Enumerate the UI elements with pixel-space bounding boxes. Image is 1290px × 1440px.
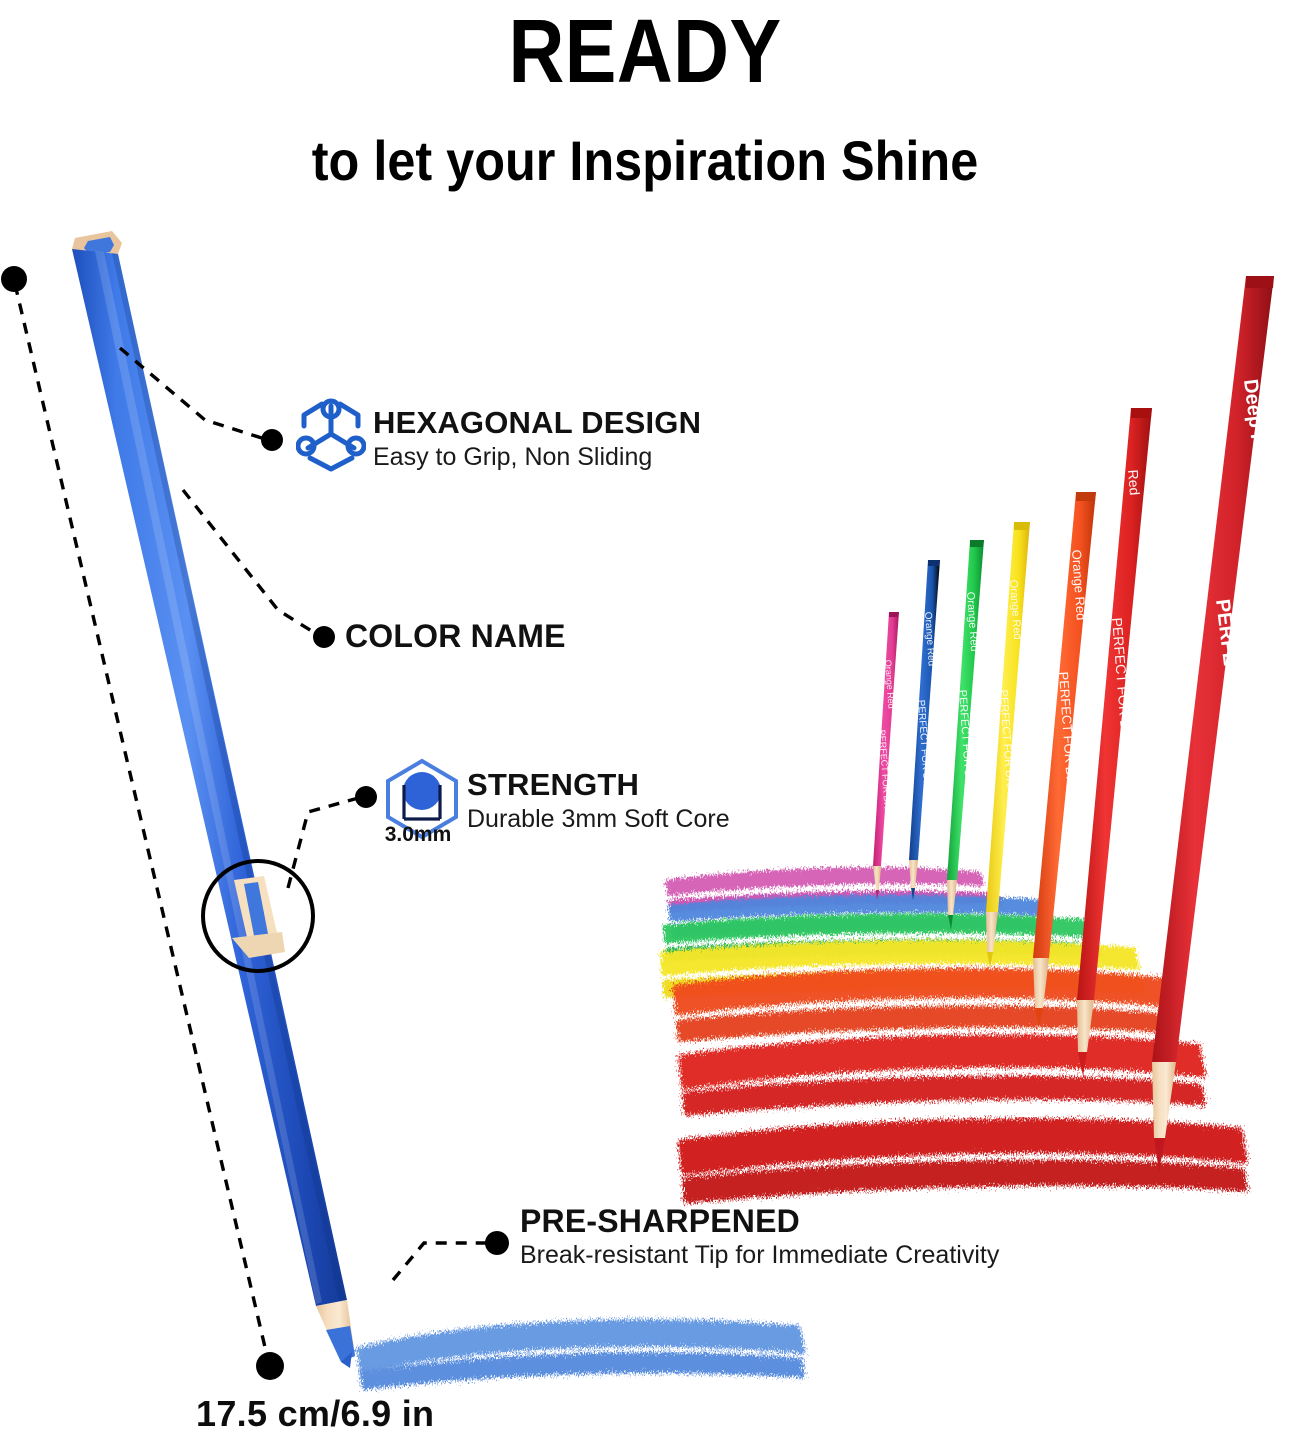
svg-text:PERFECT FOR DRAWING: PERFECT FOR DRAWING [956, 689, 977, 823]
pencil-fan-yellow: Orange Red PERFECT FOR DRAWING [986, 522, 1030, 968]
page-subtitle: to let your Inspiration Shine [65, 128, 1226, 194]
svg-text:Orange Red: Orange Red [964, 591, 980, 652]
infographic-page: READY to let your Inspiration Shine [0, 0, 1290, 1440]
leader-dot-hexagonal-design [261, 429, 283, 451]
leader-dot-top [1, 266, 27, 292]
callout-subtitle-strength: Durable 3mm Soft Core [467, 804, 730, 834]
svg-text:PERFECT FOR DRAWING: PERFECT FOR DRAWING [229, 565, 322, 868]
pencil-fan-orange-red: Orange Red PERFECT FOR DRAWING [1033, 492, 1096, 1028]
leader-pre-sharpened [393, 1243, 492, 1280]
color-swatch-strokes [660, 867, 1248, 1204]
pencil-fan-green: Orange Red PERFECT FOR DRAWING [947, 540, 984, 930]
callout-pre-sharpened: PRE-SHARPENED Break-resistant Tip for Im… [520, 1203, 999, 1270]
leader-dot-pre-sharpened [485, 1231, 509, 1255]
leader-dot-strength [355, 786, 377, 808]
svg-text:Orange Red: Orange Red [922, 611, 937, 666]
svg-text:Deep Peach Red: Deep Peach Red [1239, 378, 1280, 536]
callout-hexagonal-design: HEXAGONAL DESIGN Easy to Grip, Non Slidi… [373, 405, 701, 472]
page-title: READY [90, 6, 1199, 98]
leader-length-dimension [15, 284, 268, 1360]
svg-text:PERFECT FOR DRAWING: PERFECT FOR DRAWING [915, 699, 934, 821]
svg-text:PERFECT FOR DRAWING: PERFECT FOR DRAWING [877, 729, 895, 838]
callout-title-pre-sharpened: PRE-SHARPENED [520, 1203, 999, 1239]
svg-text:Red: Red [1125, 469, 1143, 496]
svg-text:PERFECT FOR DRAWING: PERFECT FOR DRAWING [1211, 598, 1262, 842]
leader-dot-color-name [313, 626, 335, 648]
callout-subtitle-hexagonal-design: Easy to Grip, Non Sliding [373, 442, 701, 472]
core-measurement-label: 3.0mm [372, 823, 464, 847]
leader-hexagonal-design [120, 348, 268, 440]
hexagon-molecule-icon [296, 396, 366, 474]
leader-strength [288, 797, 362, 888]
svg-text:Orange Red: Orange Red [883, 659, 896, 709]
pencil-fan-deep-peach-red: Deep Peach Red PERFECT FOR DRAWING [1152, 276, 1280, 1172]
svg-text:PERFECT FOR DRAWING: PERFECT FOR DRAWING [1056, 671, 1082, 829]
callout-title-strength: STRENGTH [467, 767, 730, 803]
callout-color-name: COLOR NAME [345, 618, 566, 654]
pencil-fan-pink: Orange Red PERFECT FOR DRAWING [873, 612, 899, 900]
callout-strength: STRENGTH Durable 3mm Soft Core [467, 767, 730, 834]
length-dimension-label: 17.5 cm/6.9 in [196, 1393, 434, 1435]
callout-title-hexagonal-design: HEXAGONAL DESIGN [373, 405, 701, 441]
pencil-fan-blue: Orange Red PERFECT FOR DRAWING [909, 560, 940, 900]
svg-text:Medium Blue: Medium Blue [170, 373, 231, 531]
svg-text:Orange Red: Orange Red [1069, 549, 1089, 621]
zoom-circle-callout [203, 861, 313, 971]
svg-text:PERFECT FOR DRAWING: PERFECT FOR DRAWING [1109, 617, 1138, 787]
svg-text:Orange Red: Orange Red [1007, 579, 1023, 640]
svg-text:PERFECT FOR DRAWING: PERFECT FOR DRAWING [997, 689, 1018, 823]
callout-subtitle-pre-sharpened: Break-resistant Tip for Immediate Creati… [520, 1240, 999, 1270]
callout-title-color-name: COLOR NAME [345, 618, 566, 654]
featured-stroke-blue [356, 1319, 806, 1390]
pencil-fan-red: Red PERFECT FOR DRAWING [1077, 408, 1152, 1076]
leader-color-name [183, 490, 318, 635]
leader-dot-bottom [256, 1352, 284, 1380]
